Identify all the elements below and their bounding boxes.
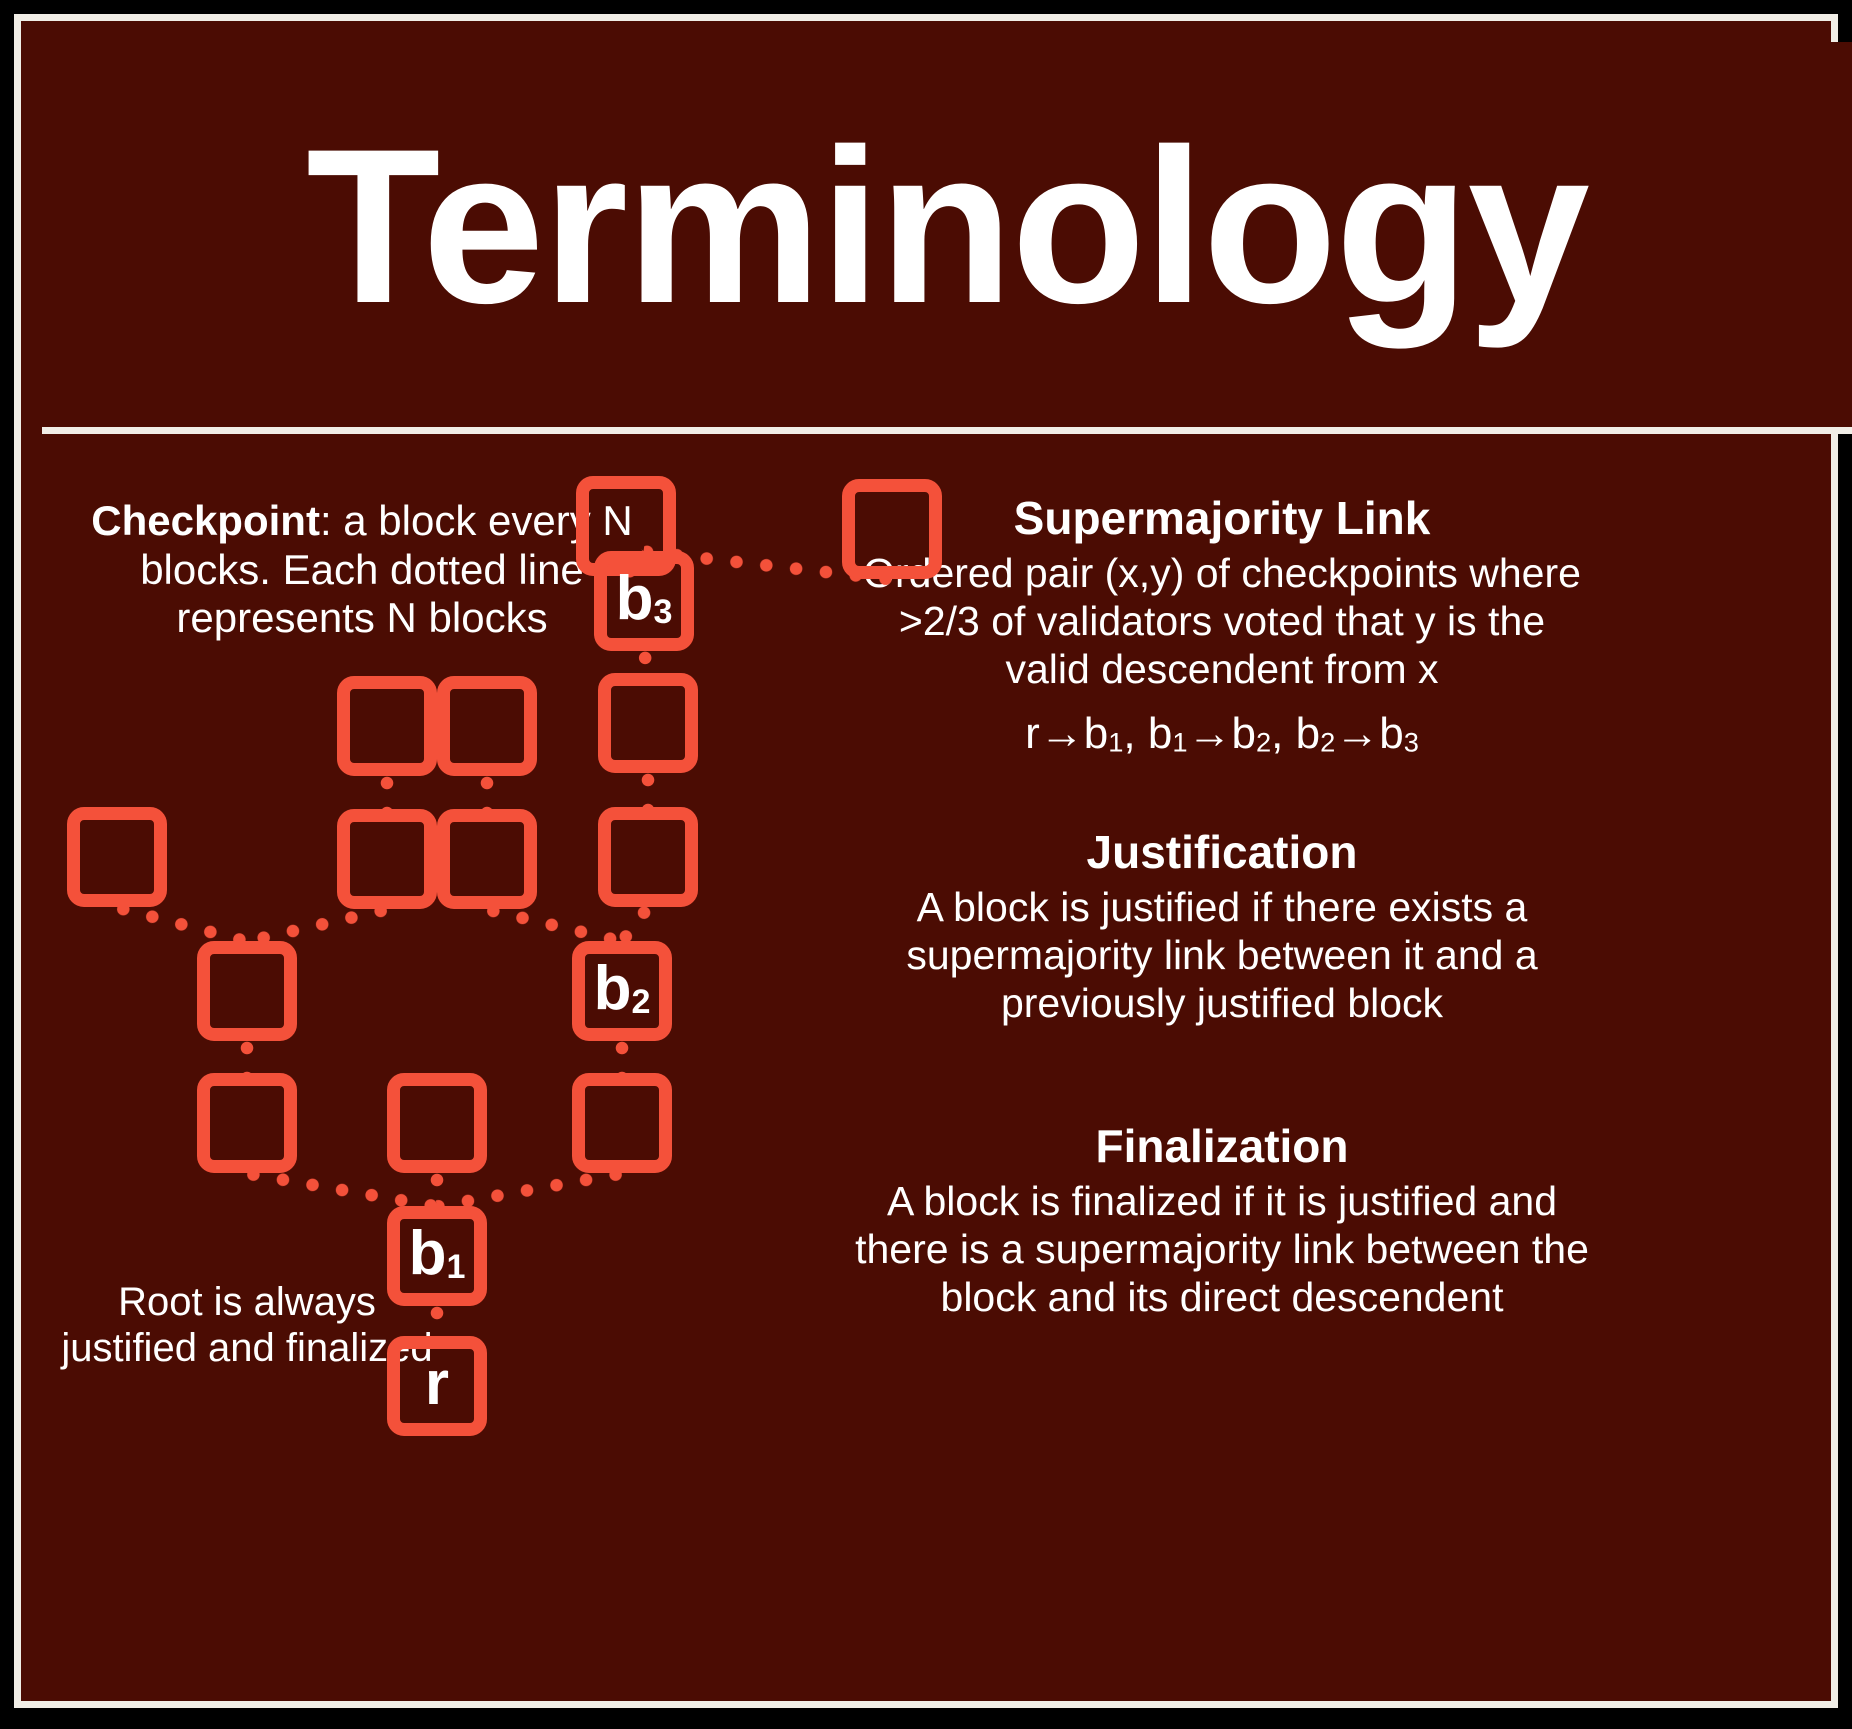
dotted-link-b3-r1 bbox=[638, 650, 655, 674]
block-empty bbox=[842, 479, 942, 579]
block-empty bbox=[337, 676, 437, 776]
slide-frame: Terminology Checkpoint: a block every N … bbox=[14, 14, 1838, 1708]
slide-root: Terminology Checkpoint: a block every N … bbox=[0, 0, 1852, 1722]
block-label: r bbox=[425, 1353, 449, 1415]
dotted-link-b2-d3 bbox=[616, 1041, 629, 1073]
dotted-link-r1-r2 bbox=[642, 773, 655, 807]
title-bar: Terminology bbox=[42, 42, 1852, 434]
block-empty bbox=[598, 673, 698, 773]
block-empty bbox=[387, 1073, 487, 1173]
block-label: b3 bbox=[616, 568, 673, 630]
block-empty bbox=[437, 809, 537, 909]
block-label: b1 bbox=[409, 1223, 466, 1285]
block-empty bbox=[337, 809, 437, 909]
dotted-link-l2-d1 bbox=[241, 1041, 254, 1073]
block-b1: b1 bbox=[387, 1206, 487, 1306]
block-tree-diagram: b3b2b1r bbox=[42, 441, 1852, 1729]
slide-body: Checkpoint: a block every N blocks. Each… bbox=[42, 441, 1852, 1729]
block-empty bbox=[197, 1073, 297, 1173]
block-b3: b3 bbox=[594, 551, 694, 651]
block-empty bbox=[197, 941, 297, 1041]
page-title: Terminology bbox=[306, 116, 1588, 354]
dotted-link-m2-m4 bbox=[481, 776, 494, 809]
block-empty bbox=[437, 676, 537, 776]
dotted-link-m1-m3 bbox=[381, 776, 394, 809]
dotted-link-b1-r bbox=[431, 1306, 444, 1336]
block-empty bbox=[572, 1073, 672, 1173]
block-b2: b2 bbox=[572, 941, 672, 1041]
block-label: b2 bbox=[594, 958, 651, 1020]
block-empty bbox=[67, 807, 167, 907]
block-empty bbox=[598, 807, 698, 907]
block-r: r bbox=[387, 1336, 487, 1436]
